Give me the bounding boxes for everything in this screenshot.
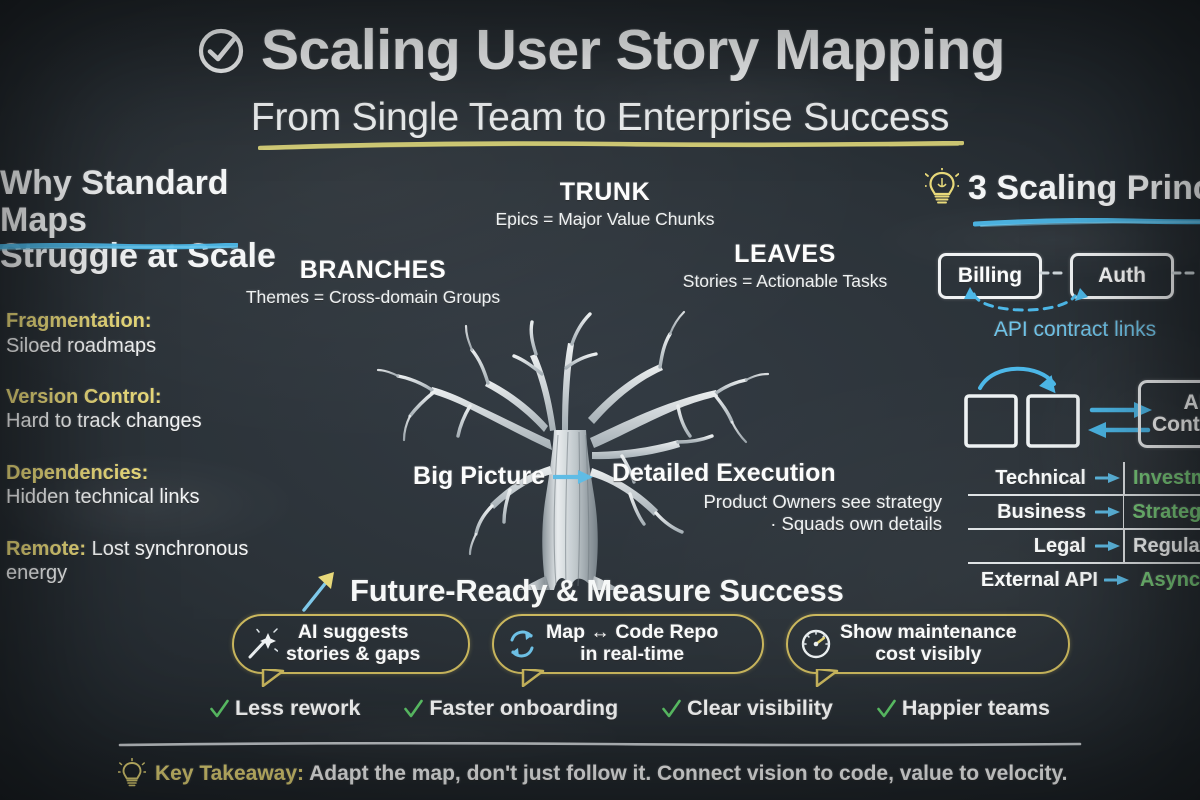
right-panel: 3 Scaling Principles [925, 168, 1200, 208]
trunk-title: TRUNK [480, 178, 730, 207]
pain-point-item: ? Version Control: Hard to track changes [0, 383, 278, 434]
bubble-text: Show maintenance cost visibly [840, 622, 1017, 666]
key-takeaway-label: Key Takeaway: [155, 762, 304, 785]
right-arrow-icon [553, 468, 595, 486]
mapping-table: Technical Investment Business Strategic … [968, 462, 1200, 596]
pain-point-item: Fragmentation: Siloed roadmaps [0, 307, 278, 358]
table-cell-left: External API [968, 569, 1102, 592]
key-takeaway-text: Key Takeaway: Adapt the map, don't just … [155, 762, 1067, 785]
pain-point-label: Fragmentation: [6, 310, 152, 332]
contract-line-1: API [1183, 392, 1200, 414]
pain-point-desc: Hard to track changes [6, 410, 202, 432]
bubble-line-1: Map ↔ Code Repo [546, 621, 718, 643]
table-cell-right: Strategic Goal [1124, 501, 1200, 524]
key-takeaway: Key Takeaway: Adapt the map, don't just … [118, 758, 1118, 790]
bubble-tail [814, 669, 840, 687]
table-cell-left: Business [968, 501, 1093, 524]
green-check-icon [404, 699, 423, 719]
pain-point-text: Dependencies: Hidden technical links [6, 459, 199, 510]
up-right-arrow-icon [300, 570, 340, 612]
bubble-tail [520, 669, 546, 687]
tree-node-leaves: LEAVES Stories = Actionable Tasks [640, 240, 930, 292]
table-row: Business Strategic Goal [968, 494, 1200, 528]
bubble-line-2: stories & gaps [286, 643, 420, 665]
future-ready-heading: Future-Ready & Measure Success [300, 570, 844, 612]
chalkboard-infographic: Scaling User Story Mapping From Single T… [0, 0, 1200, 800]
detail-sub-2: · Squads own details [612, 513, 942, 535]
future-bubble[interactable]: AI suggests stories & gaps [232, 614, 470, 674]
pain-point-list: Fragmentation: Siloed roadmaps ? Version… [0, 307, 278, 585]
table-row: External API Async process [968, 562, 1200, 596]
page-subtitle: From Single Team to Enterprise Success [0, 96, 1200, 140]
magic-wand-icon [246, 628, 278, 660]
green-check-icon [877, 699, 896, 719]
api-contracts-box: API Contracts [1138, 380, 1200, 448]
benefit-label: Clear visibility [687, 696, 833, 721]
gauge-icon [800, 628, 832, 660]
branches-title: BRANCHES [228, 256, 518, 285]
benefit-item: Happier teams [877, 696, 1050, 721]
right-arrow-icon [1093, 505, 1123, 519]
big-picture-label: Big Picture [413, 462, 545, 491]
left-heading-line1: Why Standard Maps [0, 165, 278, 238]
service-link-arrows [925, 248, 1200, 326]
pain-point-label: Dependencies: [6, 462, 148, 484]
left-panel-underline [0, 243, 238, 252]
contract-line-2: Contracts [1152, 414, 1200, 436]
api-contract-links-caption: API contract links [925, 318, 1200, 342]
future-bubble[interactable]: Show maintenance cost visibly [786, 614, 1070, 674]
left-panel: Why Standard Maps Struggle at Scale [0, 165, 278, 610]
lightbulb-icon [118, 758, 146, 790]
benefit-item: Less rework [210, 696, 360, 721]
pain-point-label: Version Control: [6, 386, 162, 408]
trunk-desc: Epics = Major Value Chunks [480, 209, 730, 230]
table-cell-left: Legal [968, 535, 1093, 558]
right-panel-underline [973, 218, 1200, 227]
bubble-text: AI suggests stories & gaps [286, 622, 420, 666]
future-ready-title: Future-Ready & Measure Success [350, 573, 844, 609]
green-check-icon [210, 699, 229, 719]
spectrum-left: Big Picture [380, 462, 595, 491]
spectrum-right: Detailed Execution Product Owners see st… [612, 460, 942, 535]
benefit-item: Faster onboarding [404, 696, 618, 721]
tree-node-trunk: TRUNK Epics = Major Value Chunks [480, 178, 730, 230]
title-row: Scaling User Story Mapping [0, 22, 1200, 79]
future-bubble-list: AI suggests stories & gaps Map ↔ Code Re… [232, 614, 1012, 684]
table-row: Legal Regulatory [968, 528, 1200, 562]
title-underline [258, 141, 964, 150]
leaves-desc: Stories = Actionable Tasks [640, 271, 930, 292]
table-cell-right: Investment [1125, 467, 1200, 490]
benefit-label: Less rework [235, 696, 360, 721]
bubble-line-2: cost visibly [875, 643, 981, 665]
pain-point-item: Dependencies: Hidden technical links [0, 459, 278, 510]
benefit-label: Faster onboarding [429, 696, 618, 721]
right-arrow-icon [1093, 471, 1123, 485]
detailed-execution-label: Detailed Execution [612, 460, 942, 488]
table-cell-right: Regulatory [1125, 535, 1200, 558]
pain-point-item: Remote: Lost synchronous energy [0, 535, 278, 586]
bubble-line-2: in real-time [580, 643, 684, 665]
table-cell-left: Technical [968, 467, 1093, 490]
page-title: Scaling User Story Mapping [261, 22, 1005, 79]
bubble-text: Map ↔ Code Repo in real-time [546, 622, 718, 666]
pain-point-desc: Hidden technical links [6, 486, 199, 508]
benefit-item: Clear visibility [662, 696, 833, 721]
bubble-line-1: AI suggests [298, 621, 409, 643]
section-divider [118, 742, 1082, 747]
chalk-tree-illustration [360, 290, 780, 590]
key-takeaway-body: Adapt the map, don't just follow it. Con… [304, 762, 1067, 785]
benefit-label: Happier teams [902, 696, 1050, 721]
detail-sub-1: Product Owners see strategy [612, 491, 942, 513]
pain-point-text: Remote: Lost synchronous energy [6, 535, 278, 586]
pain-point-text: Version Control: Hard to track changes [6, 383, 202, 434]
bubble-line-1: Show maintenance [840, 621, 1017, 643]
pain-point-desc: Siloed roadmaps [6, 335, 156, 357]
right-panel-heading: 3 Scaling Principles [925, 168, 1200, 208]
right-arrow-icon [1102, 573, 1132, 587]
right-arrow-icon [1093, 539, 1123, 553]
circled-check-icon [195, 25, 247, 77]
green-check-icon [662, 699, 681, 719]
table-cell-right: Async process [1132, 569, 1200, 592]
bubble-tail [260, 669, 286, 687]
benefit-list: Less rework Faster onboarding Clear visi… [210, 696, 1050, 721]
future-bubble[interactable]: Map ↔ Code Repo in real-time [492, 614, 764, 674]
sync-arrows-icon [506, 628, 538, 660]
pain-point-label: Remote: [6, 538, 86, 560]
lightbulb-icon [925, 168, 959, 208]
right-panel-title: 3 Scaling Principles [968, 169, 1200, 208]
pain-point-text: Fragmentation: Siloed roadmaps [6, 307, 156, 358]
leaves-title: LEAVES [640, 240, 930, 269]
table-row: Technical Investment [968, 462, 1200, 494]
